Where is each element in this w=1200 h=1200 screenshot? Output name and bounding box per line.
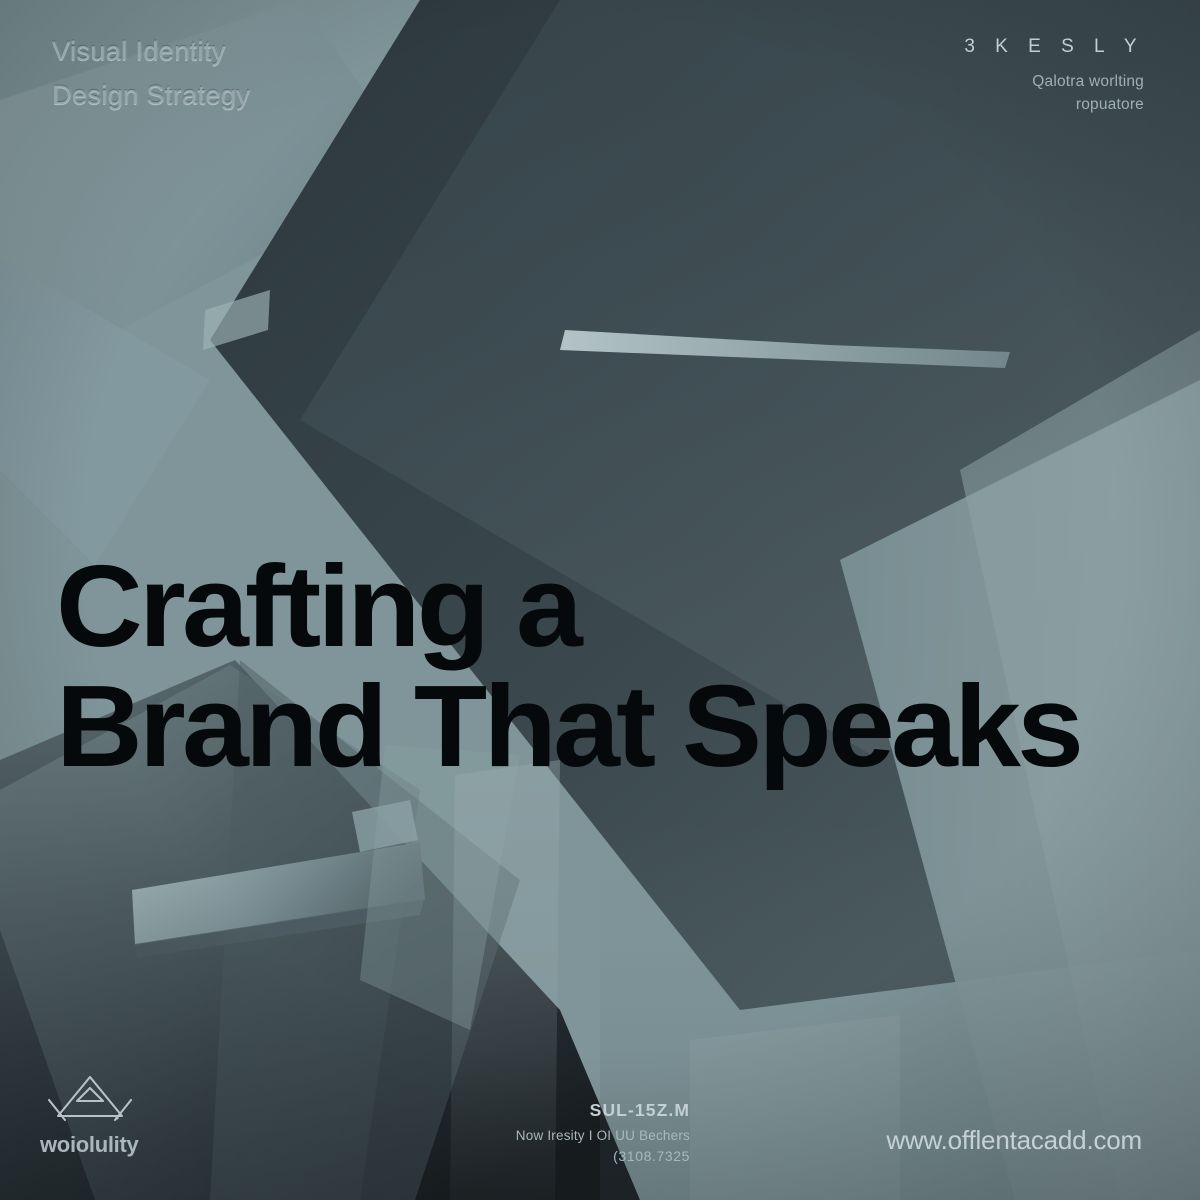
address-line: Now Iresity I OI UU Bechers: [430, 1128, 690, 1143]
website-url[interactable]: www.offlentacadd.com: [886, 1125, 1142, 1156]
address-block: SUL-15Z.M Now Iresity I OI UU Bechers (3…: [430, 1100, 690, 1164]
poster-canvas: Visual Identity Design Strategy 3 K E S …: [0, 0, 1200, 1200]
eyebrow-text: Visual Identity Design Strategy: [52, 30, 250, 117]
address-title: SUL-15Z.M: [430, 1100, 690, 1121]
page-title: Crafting a Brand That Speaks: [56, 546, 1080, 786]
logo-dot: [115, 1116, 118, 1119]
brand-tagline: Qalotra worlting ropuatore: [957, 71, 1144, 117]
logo-block: woiolulity: [40, 1070, 138, 1158]
brand-block: 3 K E S L Y Qalotra worlting ropuatore: [957, 36, 1144, 117]
mountain-triangle-icon: [44, 1070, 136, 1126]
brand-name: 3 K E S L Y: [957, 36, 1144, 58]
address-phone: (3108.7325: [430, 1148, 690, 1164]
logo-wordmark: woiolulity: [40, 1132, 138, 1158]
